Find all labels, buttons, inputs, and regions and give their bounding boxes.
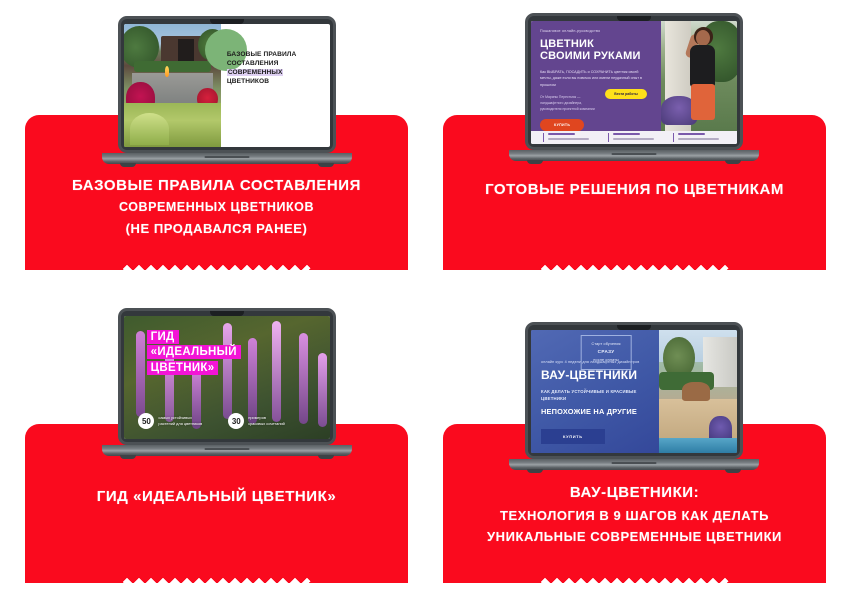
slide-copy-panel: Пошаговое онлайн-руководство ЦВЕТНИК СВО… <box>531 21 661 131</box>
card-title: ВАУ-ЦВЕТНИКИ: ТЕХНОЛОГИЯ В 9 ШАГОВ КАК Д… <box>443 482 826 545</box>
stat-caption: самых устойчивых растений для цветников <box>158 415 202 427</box>
slide-author: От Марины Перестьюк — ландшафтного дизай… <box>540 95 601 112</box>
card-title-note: УНИКАЛЬНЫЕ СОВРЕМЕННЫЕ ЦВЕТНИКИ <box>443 528 826 545</box>
slide-copy-panel: Старт обучения СРАЗУ после оплаты онлайн… <box>531 330 659 453</box>
slide-stats-row: 50 самых устойчивых растений для цветник… <box>138 413 317 429</box>
laptop-foot-left <box>527 469 543 473</box>
slide-subheading: КАК ДЕЛАТЬ УСТОЙЧИВЫЕ И КРАСИВЫЕ ЦВЕТНИК… <box>541 389 649 403</box>
slide-ready-solutions: Пошаговое онлайн-руководство ЦВЕТНИК СВО… <box>531 21 737 144</box>
laptop-mockup-ready-solutions: Пошаговое онлайн-руководство ЦВЕТНИК СВО… <box>525 13 743 165</box>
card-title: БАЗОВЫЕ ПРАВИЛА СОСТАВЛЕНИЯ СОВРЕМЕННЫХ … <box>25 175 408 237</box>
laptop-foot-left <box>120 163 136 167</box>
laptop-mockup-basic-rules: БАЗОВЫЕ ПРАВИЛА СОСТАВЛЕНИЯ СОВРЕМЕННЫХ … <box>118 16 336 168</box>
laptop-base <box>509 150 759 161</box>
slide-start-badge: Старт обучения СРАЗУ после оплаты <box>581 335 632 370</box>
slide-heading: ВАУ-ЦВЕТНИКИ <box>541 368 649 382</box>
slide-feature-item <box>673 133 725 142</box>
slide-heading-line1: БАЗОВЫЕ ПРАВИЛА <box>227 50 328 59</box>
slide-heading-line3: ЦВЕТНИК» <box>147 361 219 375</box>
slide-heading-line1: ГИД <box>147 330 179 344</box>
slide-heading-line2: СОСТАВЛЕНИЯ <box>227 59 328 68</box>
slide-kicker: Пошаговое онлайн-руководство <box>540 29 652 33</box>
slide-heading-line2: «ИДЕАЛЬНЫЙ <box>147 345 241 359</box>
slide-stat-item: 50 самых устойчивых растений для цветник… <box>138 413 202 429</box>
card-title-line2: ТЕХНОЛОГИЯ В 9 ШАГОВ КАК ДЕЛАТЬ <box>443 507 826 524</box>
card-title-line2: СОВРЕМЕННЫХ ЦВЕТНИКОВ <box>25 199 408 216</box>
laptop-notch <box>617 16 651 21</box>
card-zigzag-edge <box>25 257 408 270</box>
card-title-line1: БАЗОВЫЕ ПРАВИЛА СОСТАВЛЕНИЯ <box>72 177 361 194</box>
stat-caption: примеров красивых сочетаний <box>248 415 285 427</box>
card-zigzag-edge <box>443 257 826 270</box>
slide-stat-item: 30 примеров красивых сочетаний <box>228 413 285 429</box>
slide-heading-line1: ЦВЕТНИК <box>540 38 652 50</box>
laptop-notch <box>210 311 244 316</box>
slide-description: Как ВЫБРАТЬ, ПОСАДИТЬ и СОХРАНИТЬ цветни… <box>540 69 644 88</box>
laptop-base <box>102 445 352 456</box>
laptop-screen: БАЗОВЫЕ ПРАВИЛА СОСТАВЛЕНИЯ СОВРЕМЕННЫХ … <box>124 24 330 147</box>
laptop-screen: Старт обучения СРАЗУ после оплаты онлайн… <box>531 330 737 453</box>
laptop-foot-right <box>318 163 334 167</box>
slide-text-block: БАЗОВЫЕ ПРАВИЛА СОСТАВЛЕНИЯ СОВРЕМЕННЫХ … <box>221 24 330 147</box>
slide-photo-woman <box>661 21 737 131</box>
slide-basic-rules: БАЗОВЫЕ ПРАВИЛА СОСТАВЛЕНИЯ СОВРЕМЕННЫХ … <box>124 24 330 147</box>
slide-wow-flowerbeds: Старт обучения СРАЗУ после оплаты онлайн… <box>531 330 737 453</box>
slide-heading2: НЕПОХОЖИЕ НА ДРУГИЕ <box>541 407 649 416</box>
laptop-mockup-perfect-guide: ГИД «ИДЕАЛЬНЫЙ ЦВЕТНИК» 50 самых устойчи… <box>118 308 336 460</box>
slide-cta-button[interactable]: КУПИТЬ <box>541 429 605 444</box>
laptop-notch <box>617 325 651 330</box>
slide-perfect-guide: ГИД «ИДЕАЛЬНЫЙ ЦВЕТНИК» 50 самых устойчи… <box>124 316 330 439</box>
card-title: ГОТОВЫЕ РЕШЕНИЯ ПО ЦВЕТНИКАМ <box>443 179 826 200</box>
card-title-line1: ГИД «ИДЕАЛЬНЫЙ ЦВЕТНИК» <box>97 488 336 505</box>
laptop-foot-right <box>725 160 741 164</box>
laptop-lid: БАЗОВЫЕ ПРАВИЛА СОСТАВЛЕНИЯ СОВРЕМЕННЫХ … <box>118 16 336 153</box>
laptop-base <box>102 153 352 164</box>
laptop-foot-right <box>318 455 334 459</box>
laptop-screen: Пошаговое онлайн-руководство ЦВЕТНИК СВО… <box>531 21 737 144</box>
slide-heading-line4: ЦВЕТНИКОВ <box>227 77 328 86</box>
laptop-mockup-wow-flowerbeds: Старт обучения СРАЗУ после оплаты онлайн… <box>525 322 743 474</box>
slide-heading-line2: СВОИМИ РУКАМИ <box>540 50 652 62</box>
laptop-lid: ГИД «ИДЕАЛЬНЫЙ ЦВЕТНИК» 50 самых устойчи… <box>118 308 336 445</box>
product-cards-grid: БАЗОВЫЕ ПРАВИЛА СОСТАВЛЕНИЯ СОВРЕМЕННЫХ … <box>0 0 852 603</box>
stat-number: 50 <box>138 413 154 429</box>
laptop-lid: Пошаговое онлайн-руководство ЦВЕТНИК СВО… <box>525 13 743 150</box>
badge-big: СРАЗУ <box>592 348 621 357</box>
laptop-foot-left <box>120 455 136 459</box>
slide-feature-row <box>531 131 737 144</box>
slide-cta-button[interactable]: КУПИТЬ <box>540 119 584 131</box>
card-title-note: (НЕ ПРОДАВАЛСЯ РАНЕЕ) <box>25 220 408 237</box>
badge-line1: Старт обучения <box>592 341 621 348</box>
slide-heading-line3: СОВРЕМЕННЫХ <box>227 69 284 76</box>
laptop-notch <box>210 19 244 24</box>
slide-feature-item <box>543 133 595 142</box>
badge-line3: после оплаты <box>592 357 621 364</box>
slide-heading: БАЗОВЫЕ ПРАВИЛА СОСТАВЛЕНИЯ СОВРЕМЕННЫХ … <box>227 50 328 86</box>
stat-number: 30 <box>228 413 244 429</box>
card-title: ГИД «ИДЕАЛЬНЫЙ ЦВЕТНИК» <box>25 486 408 507</box>
laptop-foot-left <box>527 160 543 164</box>
slide-pill-badge[interactable]: Вести работы <box>605 89 646 99</box>
laptop-base <box>509 459 759 470</box>
card-title-line1: ГОТОВЫЕ РЕШЕНИЯ ПО ЦВЕТНИКАМ <box>485 181 784 198</box>
laptop-foot-right <box>725 469 741 473</box>
card-zigzag-edge <box>25 570 408 583</box>
laptop-lid: Старт обучения СРАЗУ после оплаты онлайн… <box>525 322 743 459</box>
laptop-screen: ГИД «ИДЕАЛЬНЫЙ ЦВЕТНИК» 50 самых устойчи… <box>124 316 330 439</box>
card-zigzag-edge <box>443 570 826 583</box>
slide-feature-item <box>608 133 660 142</box>
card-title-line1: ВАУ-ЦВЕТНИКИ: <box>570 484 699 501</box>
slide-photo-garden <box>659 330 737 453</box>
slide-heading: ГИД «ИДЕАЛЬНЫЙ ЦВЕТНИК» <box>147 330 241 377</box>
